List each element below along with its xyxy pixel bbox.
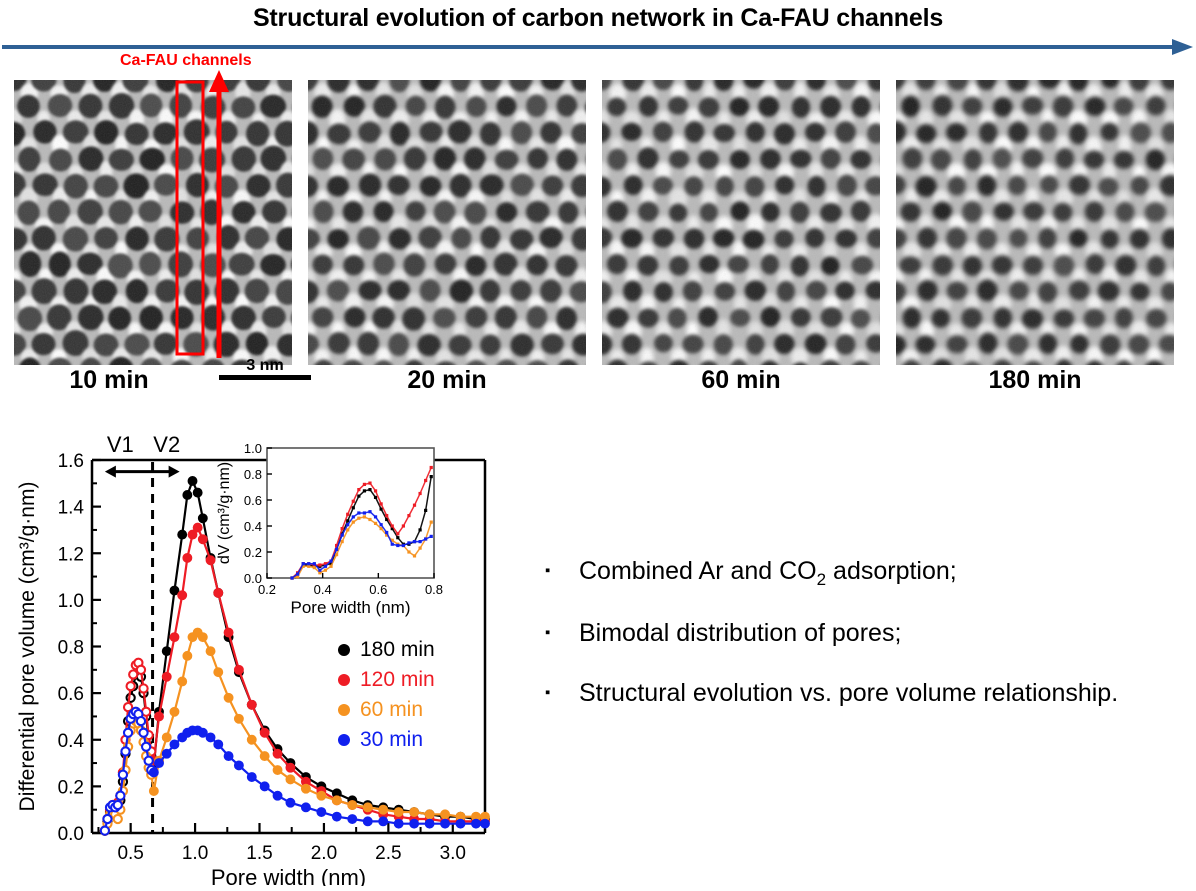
x-tick-label: 1.0	[182, 843, 208, 864]
legend-label-2: 60 min	[360, 698, 423, 721]
bullet-marker-icon: ▪	[545, 678, 579, 708]
data-point-3	[139, 729, 147, 737]
data-point-3	[260, 782, 269, 791]
data-point-3	[301, 803, 310, 812]
region-span-arrow-right	[169, 466, 180, 478]
data-point-2	[224, 693, 233, 702]
data-point-1	[224, 628, 233, 637]
inset-data-point-3	[418, 540, 421, 543]
inset-data-point-0	[424, 509, 427, 512]
y-tick-label: 1.0	[58, 591, 84, 612]
data-point-3	[441, 819, 450, 828]
inset-data-point-2	[418, 547, 421, 550]
x-tick-label: 3.0	[440, 843, 466, 864]
data-point-2	[170, 707, 179, 716]
inset-data-point-1	[430, 466, 433, 469]
inset-data-point-1	[396, 532, 399, 535]
data-point-1	[178, 591, 187, 600]
data-point-2	[394, 808, 403, 817]
inset-data-point-1	[346, 513, 349, 516]
data-point-2	[425, 810, 434, 819]
data-point-1	[286, 763, 295, 772]
data-point-3	[119, 771, 127, 779]
inset-data-point-2	[352, 521, 355, 524]
inset-x-tick-label: 0.8	[425, 582, 443, 597]
data-point-0	[178, 530, 187, 539]
x-tick-label: 1.5	[246, 843, 272, 864]
y-tick-label: 1.4	[58, 498, 85, 519]
data-point-3	[410, 819, 419, 828]
data-point-2	[114, 815, 122, 823]
tem-caption-0: 10 min	[14, 366, 204, 395]
data-point-2	[183, 651, 192, 660]
inset-data-point-3	[324, 565, 327, 568]
data-point-1	[247, 700, 256, 709]
inset-data-point-3	[374, 515, 377, 518]
data-point-2	[178, 677, 187, 686]
scale-bar-line	[219, 375, 311, 380]
inset-data-point-0	[357, 495, 360, 498]
data-point-2	[379, 805, 388, 814]
inset-data-point-0	[352, 506, 355, 509]
inset-data-point-3	[402, 544, 405, 547]
data-point-3	[114, 801, 122, 809]
data-point-1	[260, 728, 269, 737]
data-point-1	[137, 666, 145, 674]
inset-data-point-3	[357, 511, 360, 514]
inset-data-point-3	[363, 511, 366, 514]
bullet-text: Combined Ar and CO2 adsorption;	[579, 556, 1185, 590]
y-tick-label: 0.6	[58, 684, 84, 705]
data-point-0	[198, 514, 207, 523]
data-point-3	[234, 761, 243, 770]
list-item: ▪ Structural evolution vs. pore volume r…	[545, 678, 1185, 709]
data-point-1	[162, 672, 171, 681]
list-item: ▪ Bimodal distribution of pores;	[545, 618, 1185, 649]
data-point-3	[425, 819, 434, 828]
data-point-0	[188, 477, 197, 486]
data-point-3	[162, 749, 171, 758]
inset-data-point-3	[346, 523, 349, 526]
page-title: Structural evolution of carbon network i…	[0, 4, 1196, 33]
y-tick-label: 0.8	[58, 638, 84, 659]
data-point-2	[247, 735, 256, 744]
inset-data-point-1	[363, 483, 366, 486]
inset-data-point-2	[341, 540, 344, 543]
inset-x-tick-label: 0.2	[258, 582, 276, 597]
tem-panel-3	[871, 80, 1196, 365]
inset-y-tick-label: 0.6	[244, 493, 262, 508]
data-point-3	[317, 808, 326, 817]
inset-data-point-3	[385, 531, 388, 534]
data-point-2	[332, 796, 341, 805]
data-point-2	[286, 775, 295, 784]
inset-data-point-3	[413, 540, 416, 543]
data-point-3	[273, 791, 282, 800]
inset-data-point-1	[318, 563, 321, 566]
data-point-2	[363, 803, 372, 812]
tem-panel-2	[575, 80, 915, 365]
legend-marker-1	[338, 674, 350, 686]
data-point-3	[101, 827, 109, 835]
inset-x-tick-label: 0.6	[369, 582, 387, 597]
data-point-3	[137, 717, 145, 725]
inset-data-point-0	[368, 488, 371, 491]
inset-y-tick-label: 0.2	[244, 545, 262, 560]
inset-y-tick-label: 0.4	[244, 519, 262, 534]
legend-label-3: 30 min	[360, 728, 423, 751]
inset-data-point-2	[430, 521, 433, 524]
inset-data-point-3	[318, 569, 321, 572]
scale-bar: 3 nm	[219, 358, 311, 380]
inset-data-point-3	[302, 562, 305, 565]
data-point-2	[317, 791, 326, 800]
data-point-2	[260, 752, 269, 761]
inset-data-point-3	[407, 541, 410, 544]
data-point-3	[379, 817, 388, 826]
data-point-2	[198, 633, 207, 642]
legend-marker-3	[338, 734, 350, 746]
data-point-3	[456, 819, 465, 828]
data-point-3	[142, 743, 150, 751]
legend-label-0: 180 min	[360, 638, 435, 661]
inset-data-point-0	[374, 496, 377, 499]
data-point-3	[224, 752, 233, 761]
inset-data-point-2	[329, 565, 332, 568]
inset-data-point-2	[313, 566, 316, 569]
data-point-1	[198, 535, 207, 544]
data-point-3	[116, 792, 124, 800]
inset-data-point-3	[430, 535, 433, 538]
tem-panel-0	[0, 80, 328, 365]
y-tick-label: 1.2	[58, 544, 84, 565]
inset-data-point-3	[368, 510, 371, 513]
inset-data-point-0	[430, 475, 433, 478]
data-point-0	[193, 488, 202, 497]
inset-data-point-2	[324, 569, 327, 572]
x-tick-label: 2.5	[375, 843, 401, 864]
data-point-3	[149, 768, 158, 777]
y-tick-label: 0.0	[58, 824, 84, 845]
inset-data-point-0	[396, 536, 399, 539]
data-point-3	[481, 819, 490, 828]
data-point-2	[348, 801, 357, 810]
inset-data-point-2	[407, 550, 410, 553]
data-point-1	[170, 633, 179, 642]
y-tick-label: 0.4	[58, 731, 85, 752]
ca-fau-channel-annotation	[175, 68, 245, 358]
data-point-1	[273, 749, 282, 758]
data-point-2	[214, 668, 223, 677]
tem-panel-1	[280, 80, 621, 365]
bullet-text: Bimodal distribution of pores;	[579, 618, 1185, 649]
tem-caption-1: 20 min	[308, 366, 586, 395]
data-point-0	[162, 647, 171, 656]
inset-data-point-1	[380, 502, 383, 505]
inset-data-point-2	[374, 522, 377, 525]
data-point-2	[206, 647, 215, 656]
data-point-3	[472, 819, 481, 828]
data-point-3	[206, 733, 215, 742]
inset-data-point-1	[413, 504, 416, 507]
inset-xlabel: Pore width (nm)	[291, 598, 411, 617]
data-point-3	[214, 740, 223, 749]
data-point-1	[127, 682, 135, 690]
data-point-3	[121, 747, 129, 755]
inset-data-point-1	[385, 514, 388, 517]
region-label-v1: V1	[107, 432, 134, 457]
bullet-text: Structural evolution vs. pore volume rel…	[579, 678, 1185, 709]
data-point-1	[206, 556, 215, 565]
legend-marker-2	[338, 704, 350, 716]
data-point-3	[247, 773, 256, 782]
bullet-marker-icon: ▪	[545, 556, 579, 586]
data-point-2	[149, 787, 158, 796]
inset-data-point-3	[424, 537, 427, 540]
data-point-1	[214, 588, 223, 597]
data-point-1	[234, 665, 243, 674]
inset-data-point-3	[290, 576, 293, 579]
inset-data-point-3	[396, 544, 399, 547]
inset-data-point-3	[391, 543, 394, 546]
inset-data-point-1	[341, 527, 344, 530]
data-point-2	[162, 733, 171, 742]
inset-data-point-2	[357, 517, 360, 520]
scale-bar-label: 3 nm	[219, 358, 311, 374]
inset-data-point-3	[352, 515, 355, 518]
inset-data-point-1	[368, 482, 371, 485]
legend-label-1: 120 min	[360, 668, 435, 691]
data-point-3	[103, 815, 111, 823]
inset-data-point-3	[307, 562, 310, 565]
inset-data-point-1	[357, 488, 360, 491]
data-point-2	[301, 784, 310, 793]
data-point-3	[348, 815, 357, 824]
data-point-1	[193, 523, 202, 532]
inset-data-point-2	[368, 518, 371, 521]
tem-caption-3: 180 min	[896, 366, 1174, 395]
summary-bullet-list: ▪ Combined Ar and CO2 adsorption; ▪ Bimo…	[545, 556, 1185, 737]
inset-data-point-2	[413, 554, 416, 557]
data-point-1	[183, 554, 192, 563]
y-tick-label: 1.6	[58, 451, 84, 472]
region-label-v2: V2	[153, 432, 180, 457]
inset-ylabel: dV (cm³/g·nm)	[216, 462, 233, 564]
data-point-2	[273, 766, 282, 775]
inset-data-point-0	[418, 528, 421, 531]
legend-marker-0	[338, 644, 350, 656]
x-tick-label: 2.0	[311, 843, 337, 864]
inset-data-point-1	[424, 479, 427, 482]
inset-data-point-1	[418, 492, 421, 495]
data-point-1	[129, 670, 137, 678]
data-point-2	[234, 714, 243, 723]
inset-data-point-3	[296, 573, 299, 576]
inset-data-point-3	[380, 523, 383, 526]
data-point-0	[183, 491, 192, 500]
inset-data-point-2	[346, 528, 349, 531]
data-point-2	[441, 810, 450, 819]
x-tick-label: 0.5	[117, 843, 143, 864]
pore-size-distribution-chart: 0.00.20.40.60.81.01.21.41.60.51.01.52.02…	[14, 418, 524, 886]
inset-data-point-3	[341, 534, 344, 537]
data-point-3	[394, 819, 403, 828]
inset-data-point-3	[313, 562, 316, 565]
data-point-3	[332, 812, 341, 821]
inset-data-point-1	[352, 500, 355, 503]
data-point-1	[155, 712, 164, 721]
tem-caption-2: 60 min	[602, 366, 880, 395]
inset-y-tick-label: 0.8	[244, 467, 262, 482]
inset-data-point-3	[329, 560, 332, 563]
data-point-3	[363, 817, 372, 826]
inset-data-point-1	[374, 489, 377, 492]
data-point-2	[410, 808, 419, 817]
inset-data-point-0	[363, 489, 366, 492]
inset-y-tick-label: 1.0	[244, 441, 262, 456]
data-point-3	[145, 757, 153, 765]
y-tick-label: 0.2	[58, 777, 84, 798]
chart-ylabel: Differential pore volume (cm³/g·nm)	[16, 482, 39, 812]
chart-xlabel: Pore width (nm)	[211, 865, 366, 886]
data-point-3	[170, 740, 179, 749]
bullet-marker-icon: ▪	[545, 618, 579, 648]
inset-x-tick-label: 0.4	[314, 582, 332, 597]
inset-data-point-1	[402, 524, 405, 527]
data-point-3	[124, 729, 132, 737]
data-point-3	[155, 759, 164, 768]
region-span-arrow-left	[105, 466, 116, 478]
data-point-3	[286, 798, 295, 807]
inset-data-point-1	[391, 524, 394, 527]
inset-data-point-3	[335, 548, 338, 551]
data-point-1	[139, 684, 147, 692]
list-item: ▪ Combined Ar and CO2 adsorption;	[545, 556, 1185, 590]
inset-data-point-1	[407, 514, 410, 517]
inset-data-point-2	[363, 515, 366, 518]
